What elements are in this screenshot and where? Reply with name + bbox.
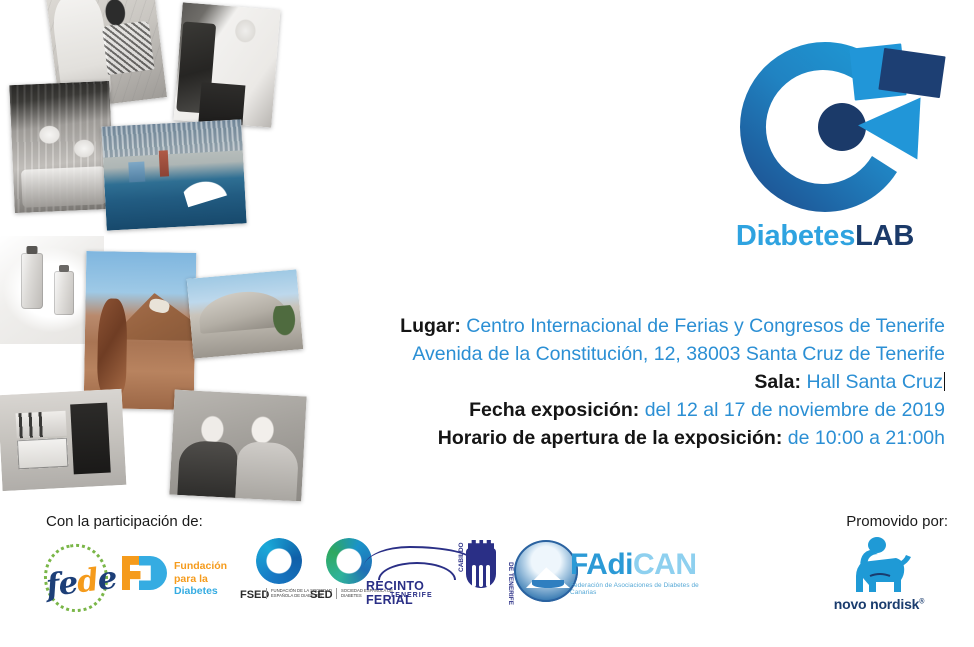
cabildo-text-ring: CABILDO DE TENERIFE: [448, 544, 514, 602]
diabeteslab-logo-text: DiabetesLAB: [700, 220, 950, 253]
photo-insulin-packaging-image: [0, 389, 126, 491]
sponsor-logos: fede Fundación para la Diabetes FSED FUN…: [22, 536, 732, 626]
event-details: Lugar: Centro Internacional de Ferias y …: [330, 312, 945, 452]
novo-nordisk-wordmark: novo nordisk®: [824, 596, 934, 612]
detail-label-fecha: Fecha exposición:: [469, 399, 639, 421]
detail-value-fecha: del 12 al 17 de noviembre de 2019: [645, 399, 945, 421]
logo-center-dot: [818, 103, 866, 151]
fpd-text-line2: para la Diabetes: [174, 573, 242, 597]
detail-line-lugar: Lugar: Centro Internacional de Ferias y …: [330, 312, 945, 340]
fadican-word-can: CAN: [633, 548, 697, 581]
text-cursor-caret: [944, 372, 945, 391]
fadican-word-fa: FA: [570, 548, 607, 581]
insulin-bottle-small: [54, 271, 74, 315]
photo-historic-couple: [169, 390, 306, 502]
packaging-vials: [16, 411, 67, 439]
photo-insulin-packaging: [0, 389, 126, 491]
fede-letters-fe: fe: [44, 565, 79, 605]
auditorio-tree: [271, 305, 298, 339]
cabildo-text-left: CABILDO: [458, 542, 465, 572]
logo-text-diabetes: Diabetes: [736, 220, 855, 252]
fsed-abbr: FSED: [240, 589, 269, 601]
photo-collage: [0, 0, 340, 512]
detail-value-horario: de 10:00 a 21:00h: [788, 427, 945, 449]
logo-triangle-shape: [856, 94, 920, 159]
sponsor-logo-fede: fede: [36, 542, 126, 608]
detail-line-direccion: Avenida de la Constitución, 12, 38003 Sa…: [330, 340, 945, 368]
diabeteslab-logo-mark: [700, 34, 950, 220]
diabeteslab-logo: DiabetesLAB: [700, 34, 950, 269]
detail-value-sala: Hall Santa Cruz: [806, 371, 943, 393]
fpd-letter-d-icon: [139, 556, 167, 590]
harbour-building: [128, 162, 145, 183]
fsed-ring-icon: [256, 538, 302, 584]
detail-line-fecha: Fecha exposición: del 12 al 17 de noviem…: [330, 396, 945, 424]
fede-wordmark: fede: [44, 560, 118, 604]
photo-auditorio: [187, 269, 304, 358]
detail-line-sala: Sala: Hall Santa Cruz: [330, 368, 945, 396]
fadican-subtitle: Federación de Asociaciones de Diabetes d…: [570, 582, 720, 596]
promoter-label: Promovido por:: [846, 513, 948, 530]
sponsor-logo-cabildo-de-tenerife: CABILDO DE TENERIFE: [442, 538, 520, 608]
fpd-text-line1: Fundación: [174, 560, 227, 572]
fadican-word-di: di: [607, 548, 633, 581]
sponsor-logo-fadican: FAdiCAN Federación de Asociaciones de Di…: [570, 550, 720, 602]
insulin-bottle-large: [21, 253, 43, 309]
detail-label-sala: Sala:: [754, 371, 801, 393]
photo-auditorio-image: [187, 269, 304, 358]
logo-text-lab: LAB: [855, 220, 914, 252]
photo-santa-cruz-harbour-image: [101, 119, 246, 230]
packaging-box: [70, 403, 111, 474]
participation-label: Con la participación de:: [46, 513, 203, 530]
photo-doctor-microscope-image: [174, 2, 281, 127]
poster-canvas: DiabetesLAB Lugar: Centro Internacional …: [0, 0, 974, 647]
photo-teide-image: [84, 251, 197, 410]
photo-doctor-microscope: [174, 2, 281, 127]
detail-value-direccion: Avenida de la Constitución, 12, 38003 Sa…: [412, 343, 945, 365]
novo-nordisk-bull-icon: [840, 536, 920, 598]
photo-santa-cruz-harbour: [101, 119, 246, 230]
recinto-ferial-subtitle: TENERIFE: [390, 592, 433, 599]
seal-outer-ring-icon: [514, 540, 578, 602]
roque-cinchado: [97, 298, 127, 396]
detail-line-horario: Horario de apertura de la exposición: de…: [330, 424, 945, 452]
detail-value-lugar: Centro Internacional de Ferias y Congres…: [466, 315, 945, 337]
photo-historic-couple-image: [169, 390, 306, 502]
fadican-wordmark: FAdiCAN: [570, 550, 720, 580]
sed-abbr: SED: [310, 589, 333, 601]
fede-letter-e: e: [95, 560, 118, 598]
seal-wave-icon: [532, 580, 564, 588]
photo-teide: [84, 251, 197, 410]
photo-lab-workers: [9, 81, 114, 213]
detail-label-lugar: Lugar:: [400, 315, 461, 337]
fpd-text-diabetes: Diabetes: [174, 585, 218, 597]
logo-rectangle-shape: [878, 48, 945, 98]
detail-label-horario: Horario de apertura de la exposición:: [438, 427, 783, 449]
fpd-text-para-la: para la: [174, 573, 208, 585]
sponsor-logo-fundacion-para-la-diabetes: Fundación para la Diabetes: [122, 552, 242, 602]
harbour-tower: [159, 150, 169, 176]
novo-nordisk-name: novo nordisk: [834, 596, 920, 612]
photo-lab-workers-image: [9, 81, 114, 213]
promoter-logo-novo-nordisk: novo nordisk®: [824, 536, 934, 622]
novo-nordisk-trademark: ®: [919, 598, 924, 605]
packaging-label: [17, 438, 68, 469]
